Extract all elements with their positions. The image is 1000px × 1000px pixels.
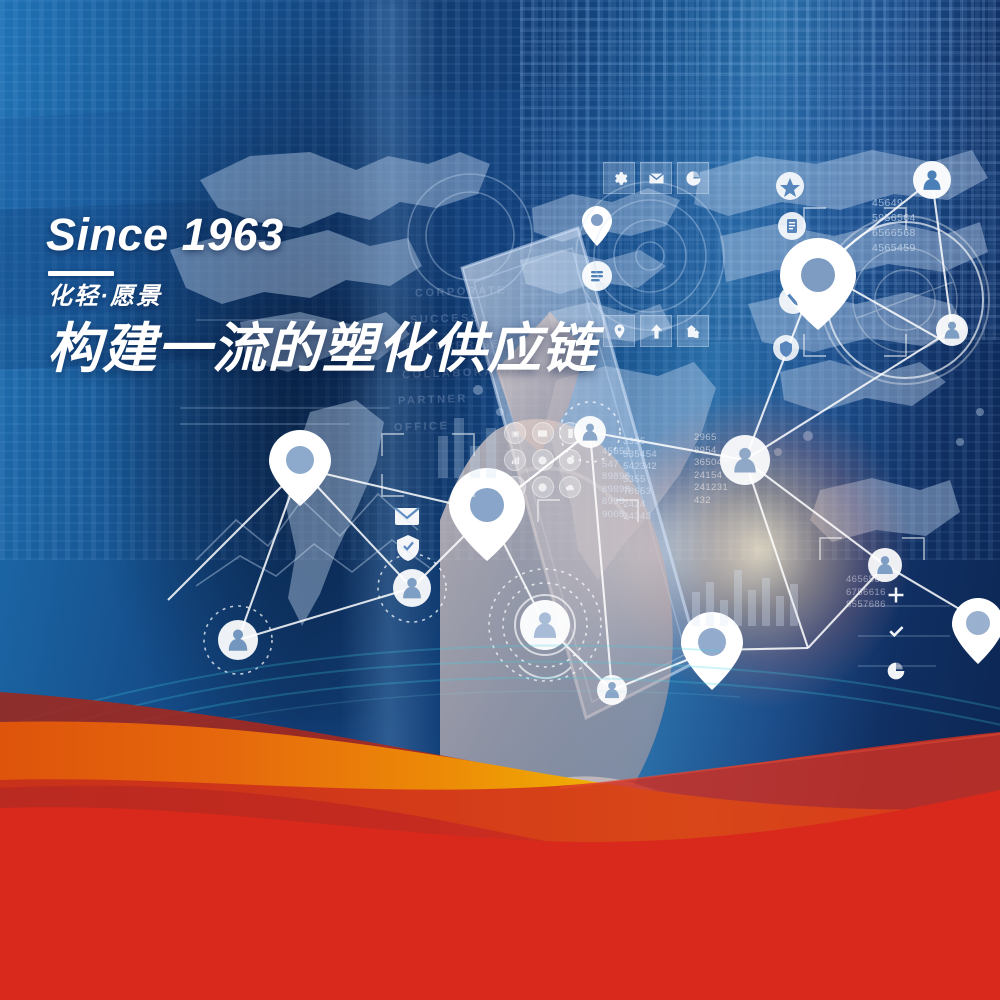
building-icon	[677, 315, 709, 347]
bottom-wave-graphic	[0, 670, 1000, 1000]
arrow-up-icon	[640, 315, 672, 347]
globe-icon	[532, 449, 554, 471]
banner-image: CORPORATE SUCCESS ENTERPRISE COLLABORATI…	[0, 0, 1000, 1000]
cart-icon	[504, 476, 526, 498]
headline-block: Since 1963 化轻·愿景 构建一流的塑化供应链	[46, 212, 597, 378]
lower-right-data-column: 4656566 6756616 8557686	[846, 574, 886, 612]
mail-icon	[640, 162, 672, 194]
mail-icon	[532, 422, 554, 444]
subtitle: 化轻·愿景	[48, 285, 597, 309]
divider-rule	[48, 271, 114, 276]
center-data-column: 3335 535454 542342 5355 78653 2424 24343	[623, 436, 657, 524]
icon-tile-strip-top	[603, 162, 709, 194]
phone-icon	[559, 422, 581, 444]
gear-icon	[559, 449, 581, 471]
page-title: 构建一流的塑化供应链	[47, 321, 597, 378]
cloud-icon	[559, 476, 581, 498]
clock-icon	[532, 476, 554, 498]
since-label: Since 1963	[46, 212, 597, 257]
phone-app-grid	[504, 422, 582, 498]
pie-chart-icon	[677, 162, 709, 194]
camera-icon	[504, 422, 526, 444]
glow-data-column: 2965 8954 36504 24154 241231 432	[694, 432, 728, 507]
chart-icon	[504, 449, 526, 471]
location-pin-icon	[603, 315, 635, 347]
gear-icon	[603, 162, 635, 194]
plus-icon	[886, 585, 906, 610]
right-data-column: 45649 5956564 6566568 4565459	[872, 196, 916, 256]
icon-tile-strip-mid	[603, 315, 709, 347]
